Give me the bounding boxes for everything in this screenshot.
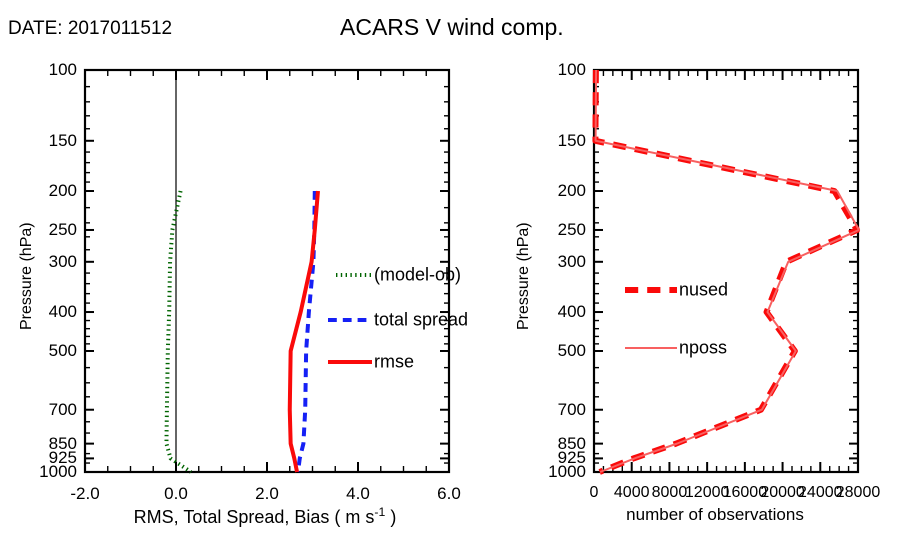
series-line-1	[298, 191, 315, 472]
right-panel: Pressure (hPa) 1001502002503004005007008…	[460, 0, 900, 560]
legend-label: nused	[679, 280, 728, 301]
legend-label: nposs	[679, 338, 727, 359]
series-line-1	[596, 70, 859, 472]
series-line-0	[166, 191, 191, 472]
left-panel: Pressure (hPa) 1001502002503004005007008…	[0, 0, 460, 560]
chart-page: DATE: 2017011512 ACARS V wind comp. Pres…	[0, 0, 900, 560]
legend-label: total spread	[374, 310, 468, 331]
legend-label: rmse	[374, 352, 414, 373]
legend-label: (model-ob)	[374, 265, 461, 286]
series-line-0	[595, 70, 857, 472]
